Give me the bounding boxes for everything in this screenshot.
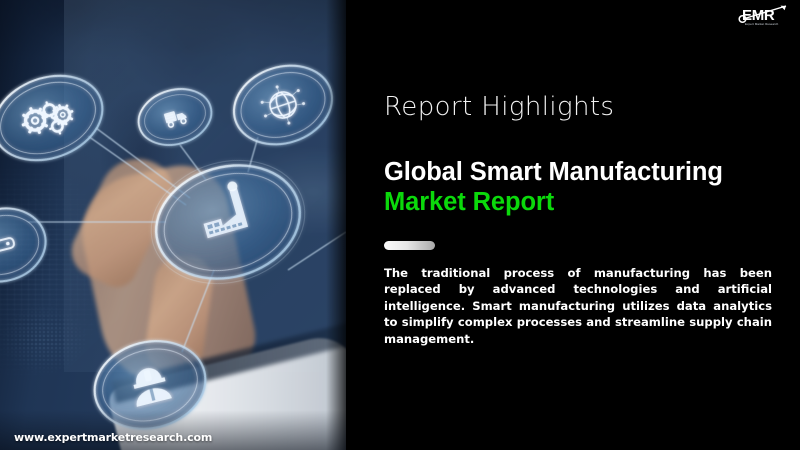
divider-pill <box>384 241 435 250</box>
hero-image-panel <box>0 0 346 450</box>
headline-line-2: Market Report <box>384 187 784 217</box>
eyebrow-label: Report Highlights <box>384 92 614 122</box>
content-panel: Report Highlights Global Smart Manufactu… <box>346 0 800 450</box>
site-url[interactable]: www.expertmarketresearch.com <box>14 431 212 444</box>
node-globe <box>224 53 343 156</box>
emr-logo[interactable]: EMR Expert Market Research <box>736 2 796 32</box>
hologram-network <box>0 0 346 450</box>
node-truck <box>132 81 218 153</box>
headline-line-1: Global Smart Manufacturing <box>384 158 723 186</box>
body-paragraph: The traditional process of manufacturing… <box>384 265 772 347</box>
logo-tagline: Expert Market Research <box>745 22 778 26</box>
image-bottom-fade <box>0 410 346 450</box>
node-device <box>0 199 53 290</box>
image-right-fade <box>326 0 346 450</box>
link-worker-factory <box>182 270 214 352</box>
page-title: Global Smart Manufacturing Market Report <box>384 157 784 217</box>
node-gears <box>0 61 114 174</box>
node-factory <box>136 143 319 301</box>
report-highlights-slide: Report Highlights Global Smart Manufactu… <box>0 0 800 450</box>
